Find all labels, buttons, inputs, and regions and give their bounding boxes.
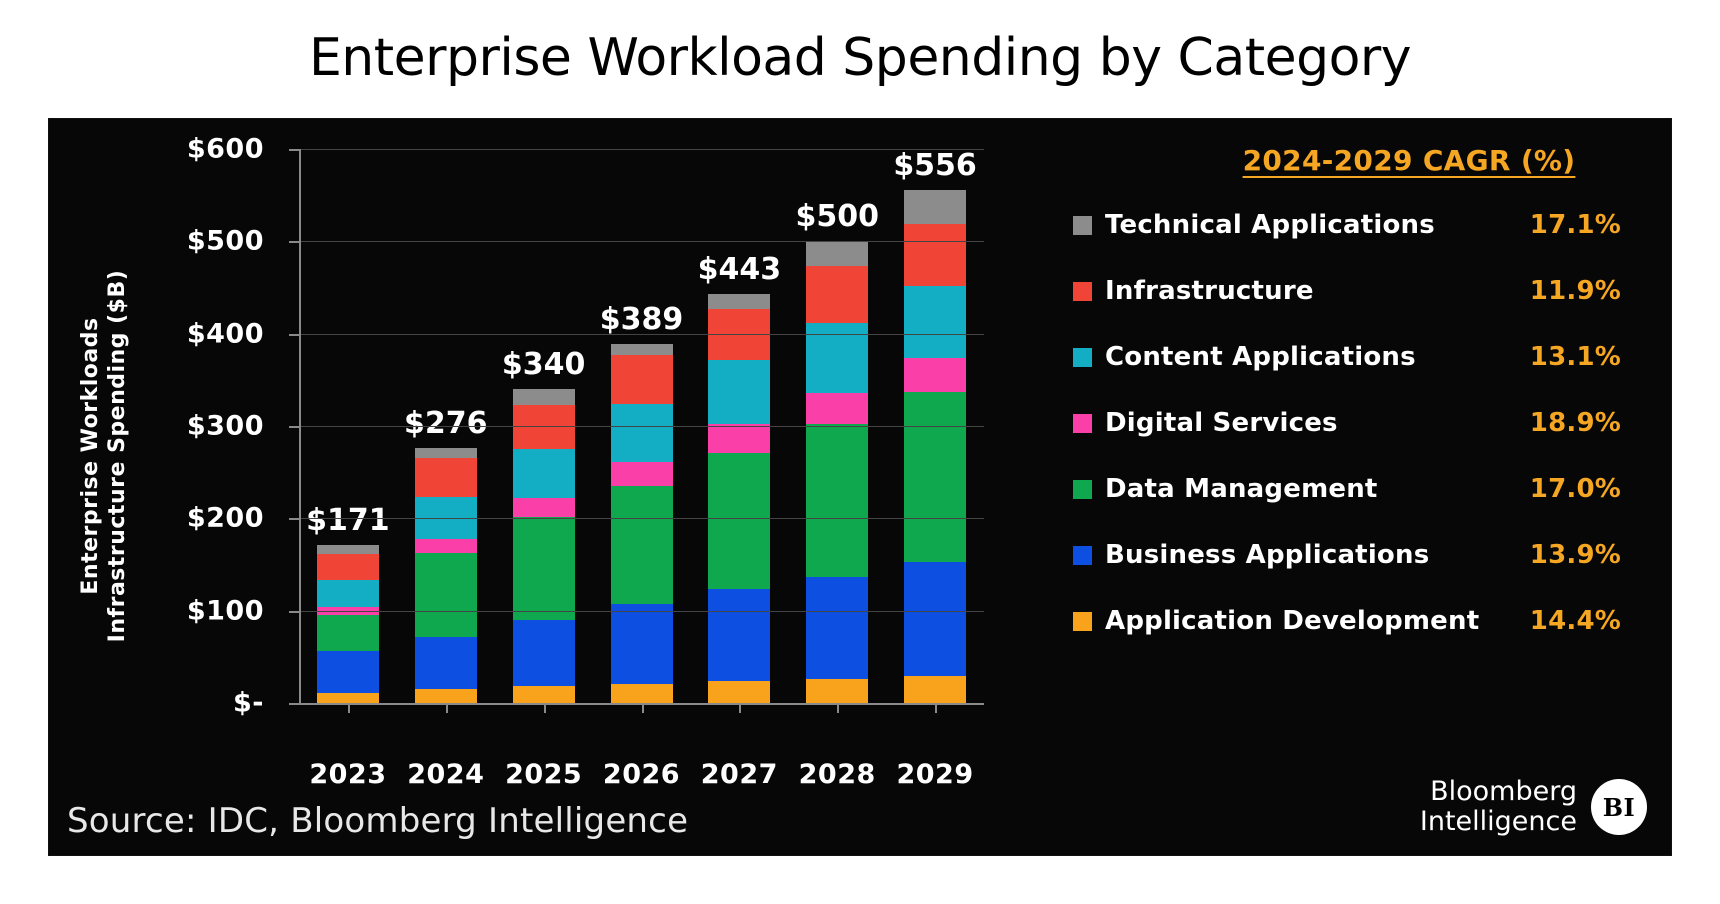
bar-segment[interactable] bbox=[317, 554, 379, 580]
axes: $171$276$340$389$443$500$556 bbox=[264, 119, 984, 857]
y-tick-label: $600 bbox=[114, 134, 264, 165]
bar-segment[interactable] bbox=[415, 689, 477, 703]
bar-total-label: $171 bbox=[306, 503, 390, 538]
y-tick-mark bbox=[289, 611, 301, 613]
bar-segment[interactable] bbox=[904, 358, 966, 392]
y-tick-mark bbox=[289, 518, 301, 520]
gridline bbox=[299, 611, 984, 612]
bar-stack-2027[interactable] bbox=[708, 294, 770, 703]
gridline bbox=[299, 334, 984, 335]
bar-segment[interactable] bbox=[513, 686, 575, 703]
bar-segment[interactable] bbox=[708, 424, 770, 453]
x-tick-label-2026: 2026 bbox=[592, 759, 692, 790]
bar-segment[interactable] bbox=[513, 517, 575, 619]
legend-item-label: Technical Applications bbox=[1105, 210, 1435, 240]
bar-segment[interactable] bbox=[611, 462, 673, 486]
bloomberg-bi-logo-icon: BI bbox=[1591, 779, 1647, 835]
legend-item-cagr-value: 17.1% bbox=[1530, 210, 1621, 240]
bar-segment[interactable] bbox=[904, 224, 966, 286]
legend-item-infrastructure[interactable]: Infrastructure11.9% bbox=[1049, 271, 1673, 311]
legend-item-technical-applications[interactable]: Technical Applications17.1% bbox=[1049, 205, 1673, 245]
y-tick-label: $100 bbox=[114, 595, 264, 626]
bar-segment[interactable] bbox=[806, 577, 868, 679]
legend-swatch-icon bbox=[1073, 480, 1092, 499]
bar-segment[interactable] bbox=[317, 545, 379, 554]
y-tick-mark bbox=[289, 426, 301, 428]
legend-swatch-icon bbox=[1073, 612, 1092, 631]
legend-item-business-applications[interactable]: Business Applications13.9% bbox=[1049, 535, 1673, 575]
source-note: Source: IDC, Bloomberg Intelligence bbox=[67, 801, 688, 841]
x-tick-mark bbox=[935, 703, 937, 713]
legend-item-cagr-value: 13.9% bbox=[1530, 540, 1621, 570]
x-tick-mark bbox=[446, 703, 448, 713]
y-tick-label: $- bbox=[114, 688, 264, 719]
legend-item-cagr-value: 17.0% bbox=[1530, 474, 1621, 504]
bar-segment[interactable] bbox=[611, 344, 673, 355]
bar-stack-2025[interactable] bbox=[513, 389, 575, 703]
x-tick-label-2024: 2024 bbox=[396, 759, 496, 790]
legend-swatch-icon bbox=[1073, 414, 1092, 433]
bar-segment[interactable] bbox=[708, 360, 770, 425]
gridline bbox=[299, 426, 984, 427]
y-tick-label: $200 bbox=[114, 503, 264, 534]
legend-item-label: Digital Services bbox=[1105, 408, 1338, 438]
gridline bbox=[299, 241, 984, 242]
bar-total-label: $443 bbox=[698, 252, 782, 287]
bar-segment[interactable] bbox=[513, 389, 575, 405]
y-tick-mark bbox=[289, 149, 301, 151]
legend: 2024-2029 CAGR (%) Technical Application… bbox=[1049, 119, 1673, 857]
legend-item-cagr-value: 13.1% bbox=[1530, 342, 1621, 372]
y-tick-mark bbox=[289, 334, 301, 336]
bar-segment[interactable] bbox=[708, 589, 770, 680]
x-tick-mark bbox=[544, 703, 546, 713]
x-tick-label-2023: 2023 bbox=[298, 759, 398, 790]
legend-item-content-applications[interactable]: Content Applications13.1% bbox=[1049, 337, 1673, 377]
bar-segment[interactable] bbox=[806, 679, 868, 703]
y-tick-label: $500 bbox=[114, 226, 264, 257]
x-tick-label-2028: 2028 bbox=[787, 759, 887, 790]
bar-segment[interactable] bbox=[513, 498, 575, 517]
legend-swatch-icon bbox=[1073, 216, 1092, 235]
bar-stack-2028[interactable] bbox=[806, 241, 868, 703]
bar-series-group: $171$276$340$389$443$500$556 bbox=[299, 119, 984, 705]
bar-segment[interactable] bbox=[904, 286, 966, 358]
legend-item-cagr-value: 14.4% bbox=[1530, 606, 1621, 636]
bar-stack-2023[interactable] bbox=[317, 545, 379, 703]
x-axis-labels: 2023202420252026202720282029 bbox=[264, 759, 984, 799]
bar-segment[interactable] bbox=[611, 604, 673, 683]
x-tick-mark bbox=[348, 703, 350, 713]
bar-segment[interactable] bbox=[415, 539, 477, 553]
bar-total-label: $556 bbox=[893, 148, 977, 183]
bar-segment[interactable] bbox=[904, 190, 966, 224]
bar-segment[interactable] bbox=[806, 393, 868, 424]
y-tick-label: $300 bbox=[114, 411, 264, 442]
bar-segment[interactable] bbox=[317, 615, 379, 651]
bar-total-label: $340 bbox=[502, 347, 586, 382]
y-tick-mark bbox=[289, 241, 301, 243]
brand-lockup: Bloomberg Intelligence BI bbox=[1420, 777, 1647, 837]
x-tick-mark bbox=[642, 703, 644, 713]
x-tick-mark bbox=[739, 703, 741, 713]
bar-segment[interactable] bbox=[317, 693, 379, 703]
bar-segment[interactable] bbox=[708, 294, 770, 309]
legend-item-label: Application Development bbox=[1105, 606, 1479, 636]
bar-segment[interactable] bbox=[611, 486, 673, 604]
legend-item-cagr-value: 11.9% bbox=[1530, 276, 1621, 306]
gridline bbox=[299, 149, 984, 150]
bar-stack-2029[interactable] bbox=[904, 190, 966, 703]
legend-item-digital-services[interactable]: Digital Services18.9% bbox=[1049, 403, 1673, 443]
bar-total-label: $276 bbox=[404, 406, 488, 441]
y-tick-mark bbox=[289, 703, 301, 705]
bar-segment[interactable] bbox=[415, 458, 477, 497]
bar-segment[interactable] bbox=[806, 241, 868, 266]
gridline bbox=[299, 518, 984, 519]
bar-segment[interactable] bbox=[317, 580, 379, 607]
bar-total-label: $500 bbox=[795, 199, 879, 234]
plot-area: Enterprise Workloads Infrastructure Spen… bbox=[49, 119, 1049, 857]
legend-swatch-icon bbox=[1073, 348, 1092, 367]
bar-segment[interactable] bbox=[611, 355, 673, 404]
bar-stack-2026[interactable] bbox=[611, 344, 673, 703]
y-axis-ticks: $600$500$400$300$200$100$- bbox=[79, 119, 264, 857]
bar-segment[interactable] bbox=[708, 681, 770, 703]
legend-header: 2024-2029 CAGR (%) bbox=[1199, 144, 1619, 177]
legend-item-label: Business Applications bbox=[1105, 540, 1429, 570]
legend-item-label: Data Management bbox=[1105, 474, 1378, 504]
x-tick-mark bbox=[837, 703, 839, 713]
x-tick-label-2029: 2029 bbox=[885, 759, 985, 790]
y-tick-label: $400 bbox=[114, 318, 264, 349]
brand-text: Bloomberg Intelligence bbox=[1420, 777, 1577, 837]
legend-swatch-icon bbox=[1073, 546, 1092, 565]
legend-item-data-management[interactable]: Data Management17.0% bbox=[1049, 469, 1673, 509]
bar-segment[interactable] bbox=[806, 424, 868, 576]
page-title: Enterprise Workload Spending by Category bbox=[0, 28, 1720, 88]
bar-segment[interactable] bbox=[415, 448, 477, 458]
bar-segment[interactable] bbox=[513, 620, 575, 686]
bar-segment[interactable] bbox=[708, 453, 770, 590]
legend-item-label: Content Applications bbox=[1105, 342, 1416, 372]
bar-segment[interactable] bbox=[415, 553, 477, 638]
bar-segment[interactable] bbox=[415, 637, 477, 689]
bar-segment[interactable] bbox=[513, 449, 575, 498]
legend-item-cagr-value: 18.9% bbox=[1530, 408, 1621, 438]
brand-line-2: Intelligence bbox=[1420, 807, 1577, 837]
bar-segment[interactable] bbox=[904, 676, 966, 703]
legend-swatch-icon bbox=[1073, 282, 1092, 301]
bar-segment[interactable] bbox=[904, 562, 966, 676]
legend-item-application-development[interactable]: Application Development14.4% bbox=[1049, 601, 1673, 641]
chart-panel: Enterprise Workloads Infrastructure Spen… bbox=[48, 118, 1672, 856]
bar-total-label: $389 bbox=[600, 302, 684, 337]
bar-segment[interactable] bbox=[317, 651, 379, 693]
x-tick-label-2025: 2025 bbox=[494, 759, 594, 790]
bar-segment[interactable] bbox=[806, 266, 868, 322]
legend-item-label: Infrastructure bbox=[1105, 276, 1314, 306]
chart-page: Enterprise Workload Spending by Category… bbox=[0, 0, 1720, 904]
bar-stack-2024[interactable] bbox=[415, 448, 477, 703]
x-tick-label-2027: 2027 bbox=[689, 759, 789, 790]
bar-segment[interactable] bbox=[611, 684, 673, 703]
brand-line-1: Bloomberg bbox=[1420, 777, 1577, 807]
bar-segment[interactable] bbox=[904, 392, 966, 562]
bar-segment[interactable] bbox=[611, 404, 673, 462]
